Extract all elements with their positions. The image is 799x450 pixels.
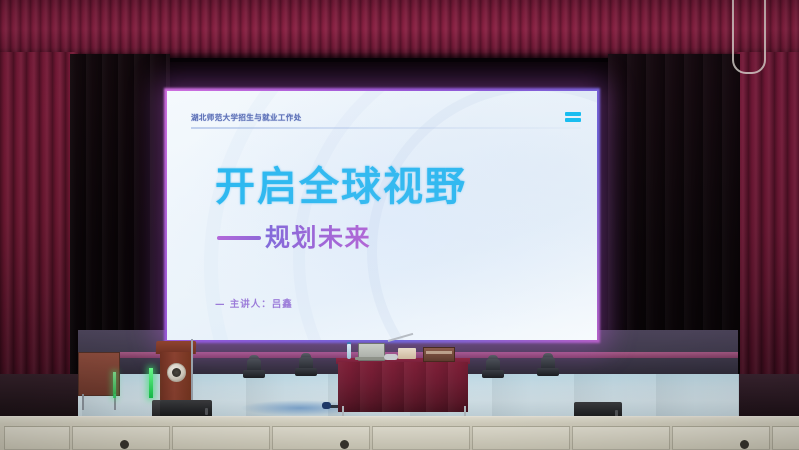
green-indicator-light bbox=[149, 368, 153, 398]
top-valance-curtain bbox=[0, 0, 799, 58]
light-base bbox=[482, 370, 504, 378]
apron-panel-knob bbox=[120, 440, 129, 449]
slide-title: 开启全球视野 bbox=[215, 167, 467, 207]
subtitle-dash bbox=[217, 236, 261, 240]
auditorium-stage-photo: 湖北师范大学招生与就业工作处 开启全球视野 规划未来 — 主讲人：吕鑫 bbox=[0, 0, 799, 450]
stage-floor-right-shadow bbox=[739, 374, 799, 420]
projection-screen: 湖北师范大学招生与就业工作处 开启全球视野 规划未来 — 主讲人：吕鑫 bbox=[167, 91, 597, 340]
podium-mic-rod bbox=[191, 339, 193, 405]
auditorium-backdrop: 湖北师范大学招生与就业工作处 开启全球视野 规划未来 — 主讲人：吕鑫 bbox=[0, 0, 799, 450]
apron-panel bbox=[672, 426, 770, 450]
green-stage-light bbox=[113, 372, 116, 398]
side-board-leg bbox=[82, 394, 84, 410]
stage-floor-left-shadow bbox=[0, 374, 78, 420]
light-base bbox=[295, 368, 317, 376]
microphone-base bbox=[384, 354, 398, 360]
light-base bbox=[537, 368, 559, 376]
floor-cable-connector bbox=[322, 402, 331, 409]
apron-panel bbox=[272, 426, 370, 450]
apron-panel bbox=[772, 426, 799, 450]
slide-subtitle-row: 规划未来 bbox=[217, 225, 371, 250]
moving-head-light bbox=[482, 352, 504, 378]
conference-table bbox=[338, 362, 468, 412]
water-bottle bbox=[347, 344, 351, 359]
hamburger-two-bar-icon bbox=[565, 112, 581, 122]
tray-box bbox=[423, 347, 455, 362]
apron-panel bbox=[4, 426, 70, 450]
moving-head-light bbox=[295, 350, 317, 376]
slide-subtitle: 规划未来 bbox=[265, 225, 371, 250]
university-crest-emblem bbox=[167, 363, 186, 382]
apron-panel-knob bbox=[740, 440, 749, 449]
light-base bbox=[243, 370, 265, 378]
desk-nameplate bbox=[398, 348, 416, 359]
apron-panel bbox=[372, 426, 470, 450]
moving-head-light bbox=[243, 352, 265, 378]
organization-name: 湖北师范大学招生与就业工作处 bbox=[191, 112, 302, 123]
apron-panel bbox=[172, 426, 270, 450]
presenter-line: — 主讲人：吕鑫 bbox=[215, 296, 293, 310]
apron-panel bbox=[472, 426, 570, 450]
laptop-base bbox=[355, 357, 386, 360]
moving-head-light bbox=[537, 350, 559, 376]
hanging-cable bbox=[732, 0, 766, 74]
header-divider bbox=[191, 127, 581, 129]
apron-panel bbox=[572, 426, 670, 450]
slide-header: 湖北师范大学招生与就业工作处 bbox=[191, 108, 581, 126]
apron-panel-knob bbox=[340, 440, 349, 449]
